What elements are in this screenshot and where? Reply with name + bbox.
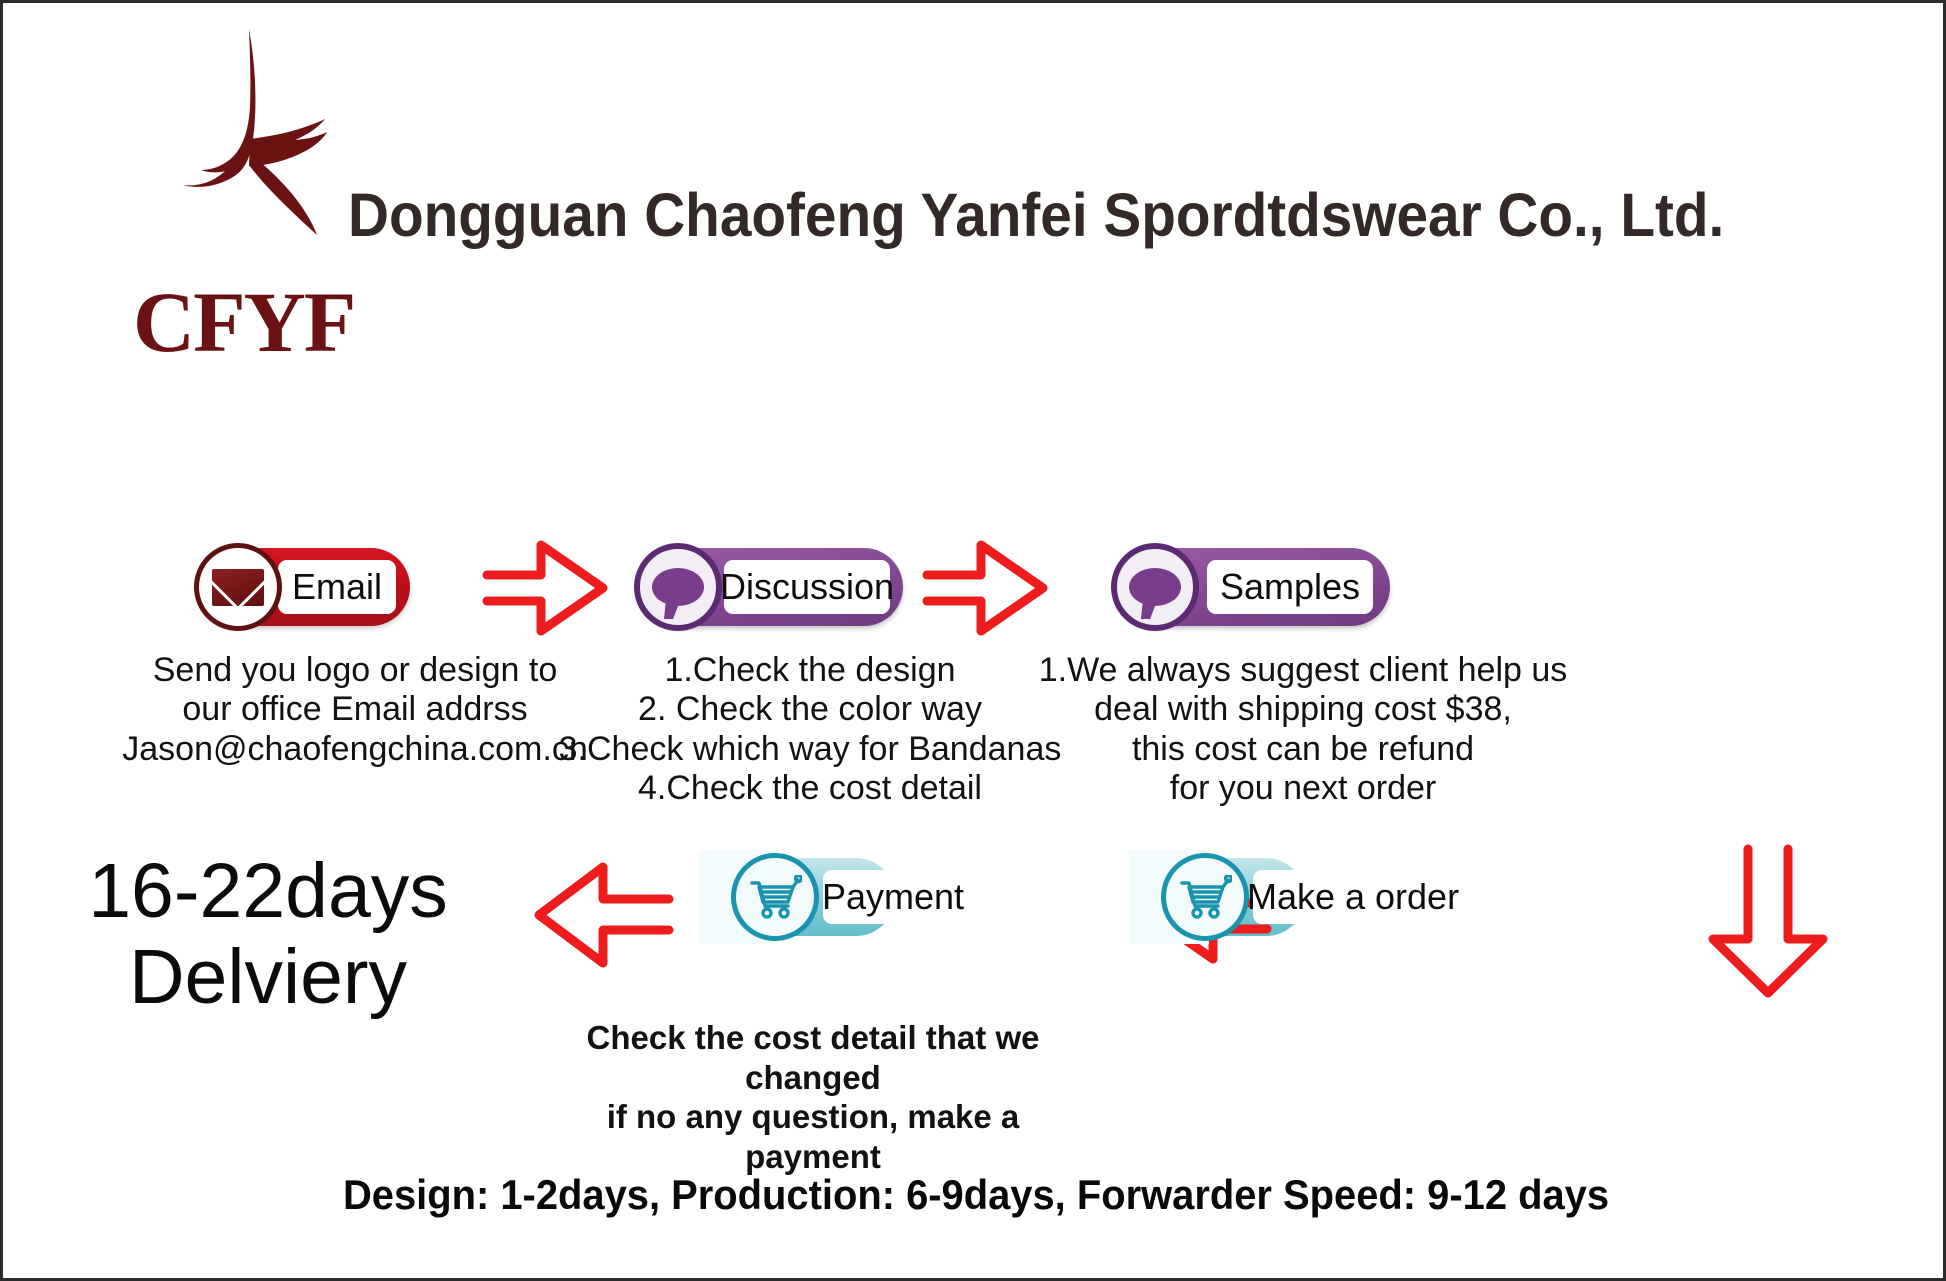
step-payment-description: Check the cost detail that we changed if… <box>563 1018 1063 1176</box>
text-line: 3.Check which way for Bandanas <box>515 730 1105 769</box>
badge-email-label: Email <box>278 560 396 614</box>
speech-bubble-icon <box>634 543 722 631</box>
arrow-down-icon <box>1703 841 1833 1001</box>
text-line: 16-22days <box>53 848 483 934</box>
delivery-time-callout: 16-22days Delviery <box>53 848 483 1020</box>
arrow-right-icon-1 <box>481 533 611 643</box>
company-title: Dongguan Chaofeng Yanfei Spordtdswear Co… <box>348 183 1799 247</box>
text-line: Delviery <box>53 934 483 1020</box>
badge-discussion-label: Discussion <box>724 560 890 614</box>
text-line: for you next order <box>1023 769 1583 808</box>
text-line: 1.Check the design <box>515 651 1105 690</box>
text-line: 2. Check the color way <box>515 690 1105 729</box>
shopping-cart-icon <box>1161 853 1249 941</box>
badge-payment[interactable]: Payment <box>745 858 895 936</box>
logo-wordmark: CFYF <box>133 279 393 365</box>
text-line: Check the cost detail that we changed <box>563 1018 1063 1097</box>
badge-samples[interactable]: Samples <box>1115 548 1390 626</box>
badge-samples-label: Samples <box>1207 560 1373 614</box>
arrow-right-icon-2 <box>921 533 1051 643</box>
badge-make-a-order-label: Make a order <box>1253 870 1453 924</box>
step-samples-description: 1.We always suggest client help us deal … <box>1023 651 1583 809</box>
badge-payment-label: Payment <box>823 870 963 924</box>
text-line: 1.We always suggest client help us <box>1023 651 1583 690</box>
footer-timeline-note: Design: 1-2days, Production: 6-9days, Fo… <box>52 1171 1901 1219</box>
text-line: 4.Check the cost detail <box>515 769 1105 808</box>
text-line: deal with shipping cost $38, <box>1023 690 1583 729</box>
badge-email[interactable]: Email <box>198 548 410 626</box>
envelope-icon <box>194 543 282 631</box>
badge-discussion[interactable]: Discussion <box>638 548 903 626</box>
arrow-left-icon-2 <box>531 855 676 975</box>
shopping-cart-icon <box>731 853 819 941</box>
infographic-page: CFYF Dongguan Chaofeng Yanfei Spordtdswe… <box>0 0 1946 1281</box>
text-line: this cost can be refund <box>1023 730 1583 769</box>
step-discussion-description: 1.Check the design 2. Check the color wa… <box>515 651 1105 809</box>
text-line: if no any question, make a payment <box>563 1097 1063 1176</box>
speech-bubble-icon <box>1111 543 1199 631</box>
